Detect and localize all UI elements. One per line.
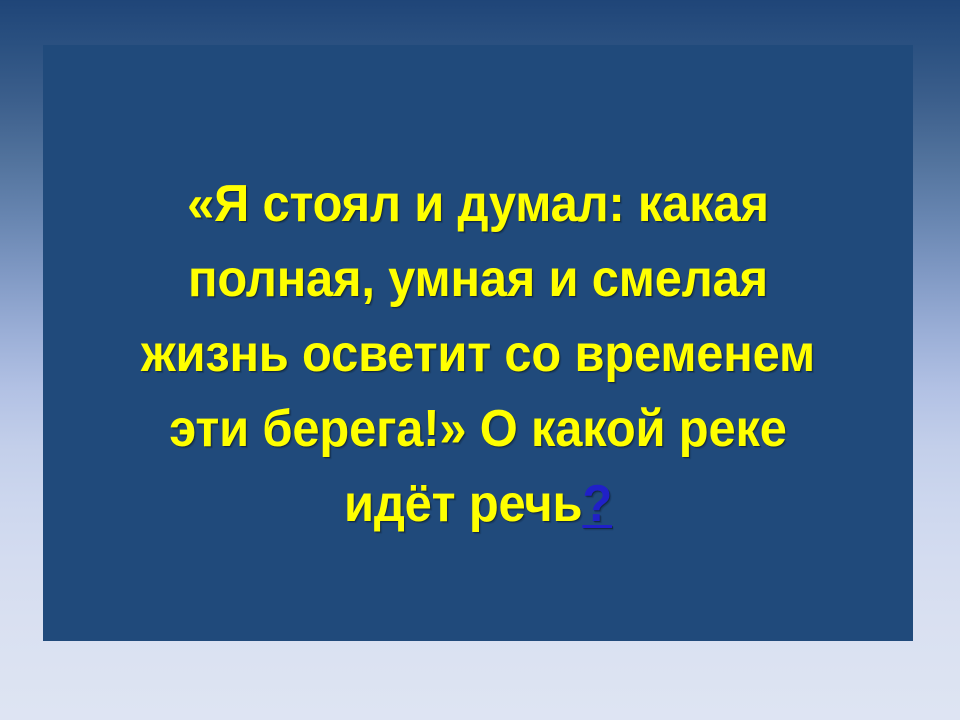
quote-text-block: «Я стоял и думал: какая полная, умная и … — [43, 167, 913, 542]
quote-line-5: идёт речь? — [69, 467, 887, 542]
quote-line-1: «Я стоял и думал: какая — [69, 167, 887, 242]
quote-line-2: полная, умная и смелая — [69, 242, 887, 317]
quote-line-3: жизнь осветит со временем — [69, 317, 887, 392]
slide-canvas: «Я стоял и думал: какая полная, умная и … — [0, 0, 960, 720]
quote-line-5-text: идёт речь — [344, 475, 582, 533]
quote-line-4: эти берега!» О какой реке — [69, 392, 887, 467]
question-mark-hyperlink[interactable]: ? — [582, 475, 612, 533]
content-panel: «Я стоял и думал: какая полная, умная и … — [43, 45, 913, 641]
